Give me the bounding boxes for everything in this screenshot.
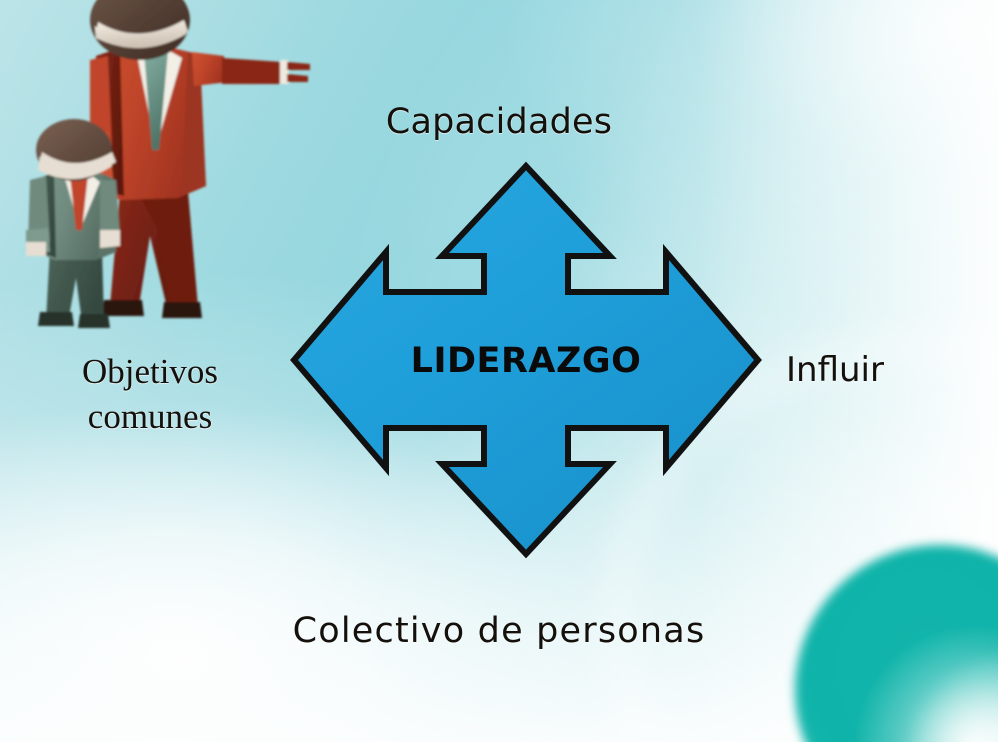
label-colectivo-de-personas: Colectivo de personas	[0, 611, 998, 651]
label-capacidades: Capacidades	[0, 102, 998, 142]
child-figure	[26, 119, 120, 328]
label-objetivos-line2: comunes	[0, 395, 300, 440]
arrow-center-label: LIDERAZGO	[411, 341, 642, 381]
label-influir: Influir	[786, 350, 884, 390]
label-objetivos-line1: Objetivos	[0, 350, 300, 395]
four-way-arrow: LIDERAZGO	[280, 152, 772, 570]
diagram-canvas: Capacidades Influir Colectivo de persona…	[0, 0, 998, 742]
label-objetivos-comunes: Objetivos comunes	[0, 350, 300, 440]
